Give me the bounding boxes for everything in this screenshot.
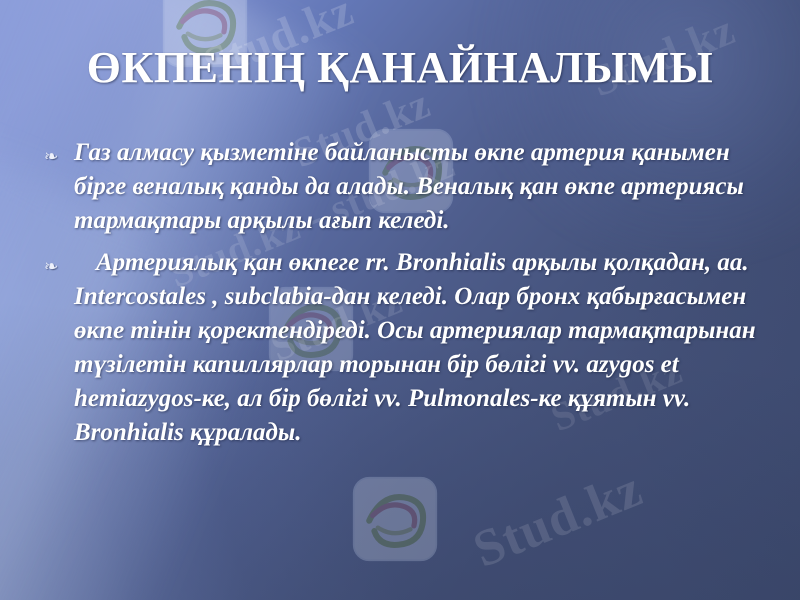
bullet-marker-icon: ❧ <box>44 246 74 275</box>
bullet-text: Артериялық қан өкпеге rr. Bronhialis арқ… <box>74 246 760 450</box>
slide-title: ӨКПЕНІҢ ҚАНАЙНАЛЫМЫ <box>0 42 800 94</box>
bullet-marker-icon: ❧ <box>44 136 74 165</box>
bullet-item: ❧ Газ алмасу қызметіне байланысты өкпе а… <box>44 136 760 238</box>
slide-body: ❧ Газ алмасу қызметіне байланысты өкпе а… <box>44 136 760 458</box>
bullet-item: ❧ Артериялық қан өкпеге rr. Bronhialis а… <box>44 246 760 450</box>
presentation-slide: Stud.kz Stud.kz Stud.kz - stud.kz Stud.k… <box>0 0 800 600</box>
bullet-text: Газ алмасу қызметіне байланысты өкпе арт… <box>74 136 760 238</box>
slide-content: ӨКПЕНІҢ ҚАНАЙНАЛЫМЫ ❧ Газ алмасу қызметі… <box>0 0 800 600</box>
